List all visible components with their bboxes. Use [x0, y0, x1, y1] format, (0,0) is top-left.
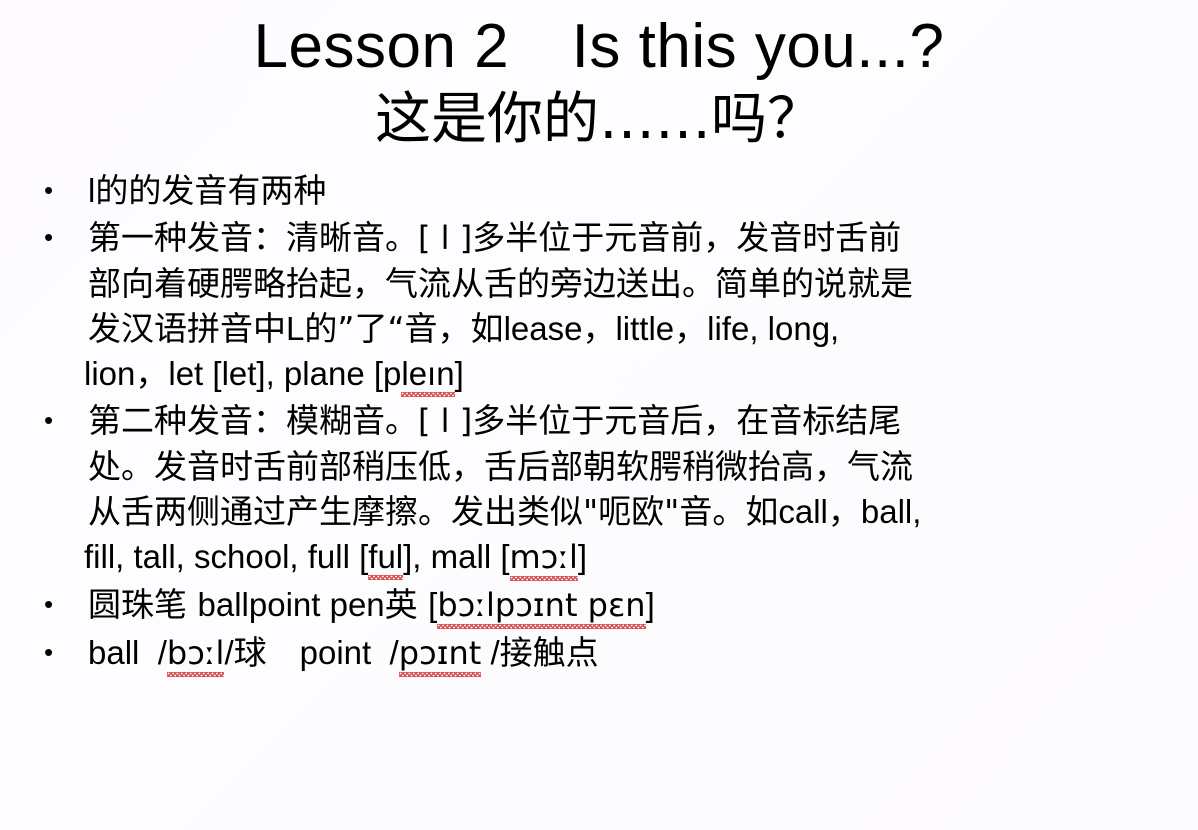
bullet-text: ball /bɔːl/球 point /pɔɪnt /接触点: [88, 630, 1198, 676]
bullet-item-ball-point-vocab: •ball /bɔːl/球 point /pɔɪnt /接触点: [0, 630, 1198, 676]
text-run: 第二种发音：模糊音。: [88, 401, 418, 440]
text-run: ], mall [: [403, 538, 509, 575]
text-run: [ l ]: [418, 402, 472, 440]
bullet-dot-icon: •: [44, 215, 56, 260]
slide-title-block: Lesson 2 Is this you...? 这是你的……吗？: [0, 0, 1198, 154]
bullet-line: 第一种发音：清晰音。[ l ]多半位于元音前，发音时舌前: [88, 215, 1198, 261]
text-run: ，: [674, 309, 707, 348]
bullet-dot-icon: •: [44, 630, 56, 675]
bullet-list: •l的的发音有两种•第一种发音：清晰音。[ l ]多半位于元音前，发音时舌前部向…: [0, 168, 1198, 676]
text-run: 的”了“音，如: [304, 309, 503, 348]
text-run: 球: [234, 633, 300, 672]
bullet-dot-icon: •: [44, 168, 56, 213]
text-run: ，: [135, 354, 168, 393]
text-run: lion: [84, 355, 135, 392]
slide-canvas: Lesson 2 Is this you...? 这是你的……吗？ •l的的发音…: [0, 0, 1198, 830]
text-run: L: [286, 310, 304, 347]
text-run: 处。发音时舌前部稍压低，舌后部朝软腭稍微抬高，气流: [88, 447, 913, 486]
text-run: ball /: [88, 634, 167, 671]
spellcheck-flagged-text: ful: [368, 534, 403, 579]
text-run: point /: [300, 634, 399, 671]
text-run: call: [778, 493, 828, 530]
spellcheck-flagged-text: mɔːl: [510, 535, 578, 580]
text-run: let [let], plane: [168, 355, 373, 392]
bullet-text: 圆珠笔 ballpoint pen英 [bɔːlpɔɪnt pɛn]: [88, 582, 1198, 628]
text-run: little: [615, 310, 674, 347]
text-run: 圆珠笔: [88, 585, 198, 624]
text-run: 发汉语拼音中: [88, 309, 286, 348]
text-run: ]: [578, 538, 587, 575]
text-run: ]: [646, 586, 655, 623]
page-title-english: Lesson 2 Is this you...?: [0, 8, 1198, 86]
text-run: 第一种发音：清晰音。: [88, 218, 418, 257]
text-run: fill, tall, school, full [: [84, 538, 368, 575]
spellcheck-flagged-text: bɔːl: [167, 631, 225, 676]
text-run: 从舌两侧通过产生摩擦。发出类似"呃欧"音。如: [88, 492, 778, 531]
bullet-line: l的的发音有两种: [88, 168, 1198, 213]
text-run: /: [481, 634, 499, 671]
bullet-text: l的的发音有两种: [88, 168, 1198, 213]
text-run: 多半位于元音前，发音时舌前: [472, 218, 901, 257]
bullet-line: 部向着硬腭略抬起，气流从舌的旁边送出。简单的说就是: [88, 261, 1198, 306]
bullet-text: 第二种发音：模糊音。[ l ]多半位于元音后，在音标结尾处。发音时舌前部稍压低，…: [88, 398, 1198, 580]
text-run: [ l ]: [418, 219, 472, 257]
spellcheck-flagged-text: pɔɪnt: [399, 631, 482, 676]
bullet-dot-icon: •: [44, 582, 56, 627]
page-title-chinese: 这是你的……吗？: [0, 86, 1198, 154]
bullet-line: lion，let [let], plane [pleın]: [84, 351, 1198, 396]
bullet-line: 从舌两侧通过产生摩擦。发出类似"呃欧"音。如call，ball,: [88, 489, 1198, 534]
text-run: [: [428, 586, 437, 623]
text-run: life, long,: [707, 310, 839, 347]
text-run: 的的发音有两种: [95, 171, 326, 210]
text-run: 部向着硬腭略抬起，气流从舌的旁边送出。简单的说就是: [88, 264, 913, 303]
text-run: [p: [374, 355, 402, 392]
text-run: ]: [455, 355, 464, 392]
text-run: 英: [385, 585, 429, 624]
bullet-line: 处。发音时舌前部稍压低，舌后部朝软腭稍微抬高，气流: [88, 444, 1198, 489]
text-run: ball,: [861, 493, 922, 530]
bullet-item-second-pronunciation: •第二种发音：模糊音。[ l ]多半位于元音后，在音标结尾处。发音时舌前部稍压低…: [0, 398, 1198, 580]
bullet-line: 第二种发音：模糊音。[ l ]多半位于元音后，在音标结尾: [88, 398, 1198, 444]
spellcheck-flagged-text: leın: [401, 351, 454, 396]
text-run: 多半位于元音后，在音标结尾: [472, 401, 901, 440]
bullet-item-ballpoint-pen-vocab: •圆珠笔 ballpoint pen英 [bɔːlpɔɪnt pɛn]: [0, 582, 1198, 628]
bullet-dot-icon: •: [44, 398, 56, 443]
bullet-item-pronunciation-intro: •l的的发音有两种: [0, 168, 1198, 213]
spellcheck-flagged-text: bɔːlpɔɪnt pɛn: [437, 583, 645, 628]
text-run: lease: [504, 310, 583, 347]
bullet-item-first-pronunciation: •第一种发音：清晰音。[ l ]多半位于元音前，发音时舌前部向着硬腭略抬起，气流…: [0, 215, 1198, 396]
bullet-line: 圆珠笔 ballpoint pen英 [bɔːlpɔɪnt pɛn]: [88, 582, 1198, 628]
text-run: ，: [582, 309, 615, 348]
text-run: ballpoint pen: [198, 586, 385, 623]
bullet-line: fill, tall, school, full [ful], mall [mɔ…: [84, 534, 1198, 580]
text-run: /: [224, 634, 233, 671]
text-run: 接触点: [500, 633, 599, 672]
bullet-text: 第一种发音：清晰音。[ l ]多半位于元音前，发音时舌前部向着硬腭略抬起，气流从…: [88, 215, 1198, 396]
text-run: ，: [828, 492, 861, 531]
bullet-line: ball /bɔːl/球 point /pɔɪnt /接触点: [88, 630, 1198, 676]
bullet-line: 发汉语拼音中L的”了“音，如lease，little，life, long,: [88, 306, 1198, 351]
